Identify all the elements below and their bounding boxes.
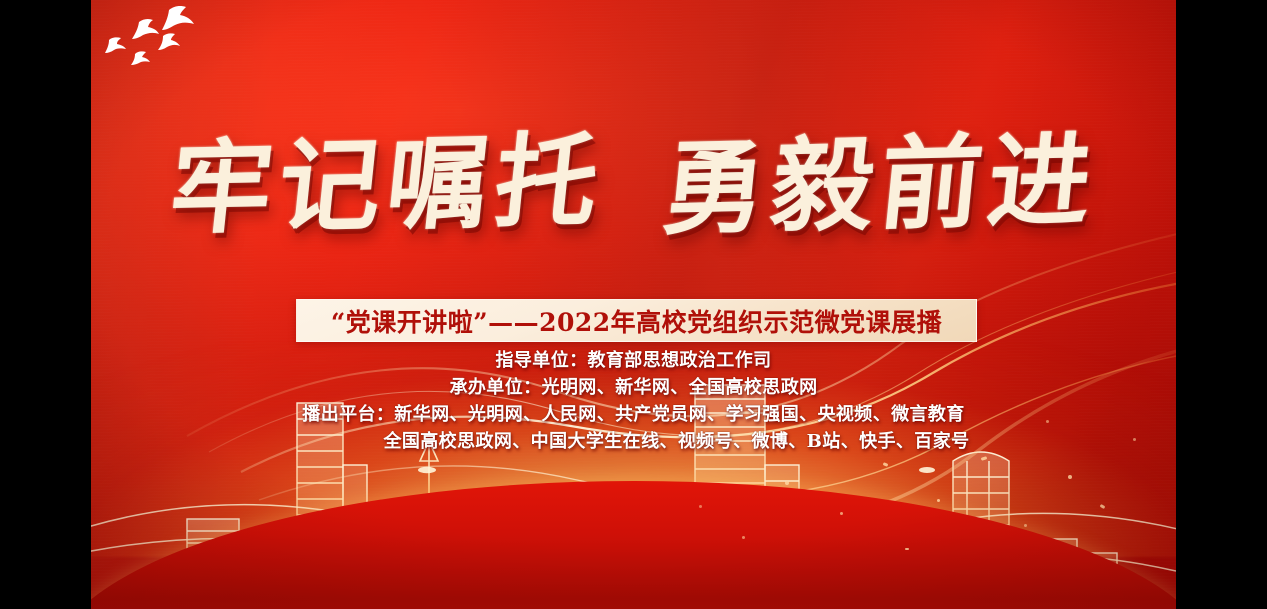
credit-line-platforms-2: 全国高校思政网、中国大学生在线、视频号、微博、B站、快手、百家号 [91,428,1176,455]
pillarbox-right [1176,0,1267,609]
subtitle-banner: “党课开讲啦”——2022年高校党组织示范微党课展播 [296,299,977,342]
headline: 牢记嘱托 勇毅前进 [91,132,1176,239]
headline-phrase-1: 牢记嘱托 [165,128,609,243]
credit-line-organizer: 承办单位：光明网、新华网、全国高校思政网 [91,374,1176,401]
headline-phrase-2: 勇毅前进 [658,127,1102,244]
poster-stage: 牢记嘱托 勇毅前进 “党课开讲啦”——2022年高校党组织示范微党课展播 指导单… [91,0,1176,609]
pillarbox-left [0,0,91,609]
peace-doves [95,4,225,66]
credits-block: 指导单位：教育部思想政治工作司 承办单位：光明网、新华网、全国高校思政网 播出平… [91,347,1176,455]
subtitle-banner-text: “党课开讲啦”——2022年高校党组织示范微党课展播 [331,303,942,339]
credit-line-guidance: 指导单位：教育部思想政治工作司 [91,347,1176,374]
poster-screen: 牢记嘱托 勇毅前进 “党课开讲啦”——2022年高校党组织示范微党课展播 指导单… [0,0,1267,609]
credit-line-platforms-1: 播出平台：新华网、光明网、人民网、共产党员网、学习强国、央视频、微言教育 [91,401,1176,428]
